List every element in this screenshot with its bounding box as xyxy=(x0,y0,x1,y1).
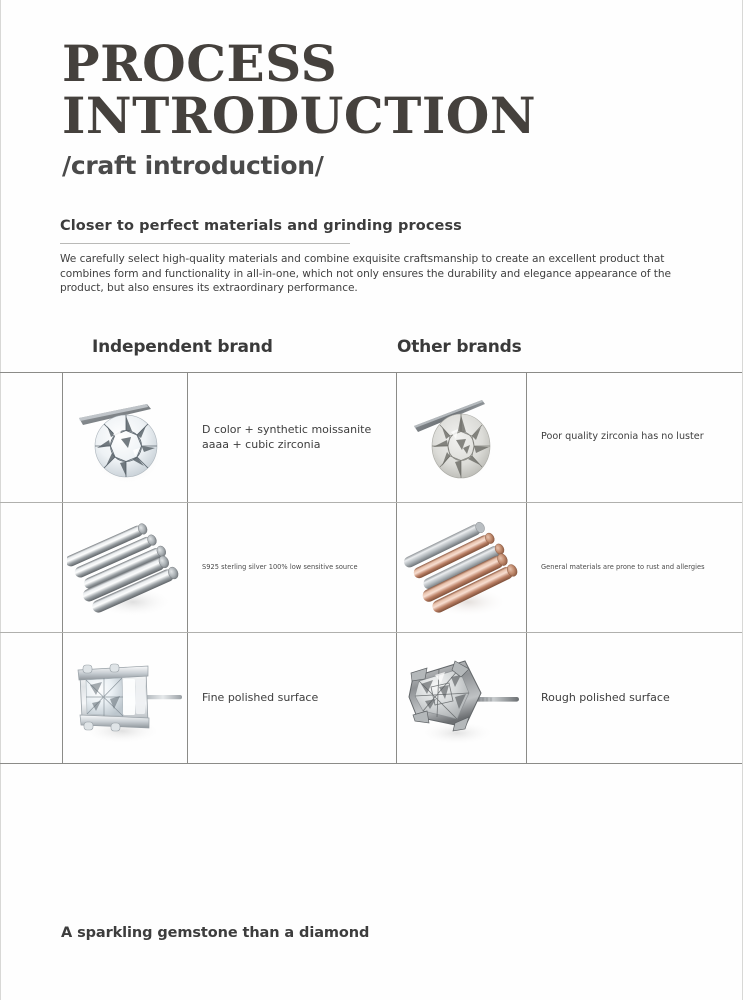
cell-text-left: S925 sterling silver 100% low sensitive … xyxy=(188,503,397,632)
row-gutter-cell xyxy=(0,503,63,632)
intro-section: Closer to perfect materials and grinding… xyxy=(60,218,688,296)
cell-text-right: General materials are prone to rust and … xyxy=(527,503,743,632)
cell-text-left: D color + synthetic moissanite aaaa + cu… xyxy=(188,373,397,502)
comparison-text-left: S925 sterling silver 100% low sensitive … xyxy=(188,563,366,572)
column-header-other-brands: Other brands xyxy=(397,337,522,357)
fine-polished-stud-earring-icon xyxy=(66,639,184,757)
table-row: Fine polished surface xyxy=(0,633,743,763)
section-divider xyxy=(60,243,350,244)
comparison-text-right: Poor quality zirconia has no luster xyxy=(527,431,712,443)
cell-text-left: Fine polished surface xyxy=(188,633,397,763)
page-title-line1: PROCESS xyxy=(62,40,722,88)
page-header: PROCESS INTRODUCTION /craft introduction… xyxy=(62,40,722,180)
row-gutter-cell xyxy=(0,633,63,763)
column-header-independent-brand: Independent brand xyxy=(92,337,273,357)
comparison-table: D color + synthetic moissanite aaaa + cu… xyxy=(0,372,743,764)
silver-metal-rods-bundle-icon xyxy=(67,510,183,626)
comparison-text-right: Rough polished surface xyxy=(527,691,678,705)
section-body-text: We carefully select high-quality materia… xyxy=(60,252,675,296)
round-brilliant-diamond-with-tweezers-icon xyxy=(69,382,181,494)
table-row: S925 sterling silver 100% low sensitive … xyxy=(0,503,743,633)
table-row: D color + synthetic moissanite aaaa + cu… xyxy=(0,373,743,503)
cell-image-left xyxy=(63,373,188,502)
cell-image-right xyxy=(397,503,527,632)
cell-text-right: Poor quality zirconia has no luster xyxy=(527,373,743,502)
comparison-text-right: General materials are prone to rust and … xyxy=(527,563,713,572)
process-introduction-page: PROCESS INTRODUCTION /craft introduction… xyxy=(0,0,743,1000)
comparison-text-left: D color + synthetic moissanite aaaa + cu… xyxy=(188,423,396,452)
rough-polished-stud-earring-icon xyxy=(403,639,521,757)
page-title-line2: INTRODUCTION xyxy=(62,92,722,140)
cell-image-left xyxy=(63,503,188,632)
comparison-column-headers: Independent brand Other brands xyxy=(0,337,743,367)
copper-metal-rods-bundle-icon xyxy=(404,510,520,626)
cell-image-right xyxy=(397,633,527,763)
dull-zirconia-stone-with-tweezers-icon xyxy=(406,382,518,494)
cell-image-left xyxy=(63,633,188,763)
page-subtitle: /craft introduction/ xyxy=(62,151,722,180)
section-heading: Closer to perfect materials and grinding… xyxy=(60,218,688,234)
cell-text-right: Rough polished surface xyxy=(527,633,743,763)
comparison-text-left: Fine polished surface xyxy=(188,691,326,705)
cell-image-right xyxy=(397,373,527,502)
bottom-caption: A sparkling gemstone than a diamond xyxy=(61,925,369,941)
row-gutter-cell xyxy=(0,373,63,502)
